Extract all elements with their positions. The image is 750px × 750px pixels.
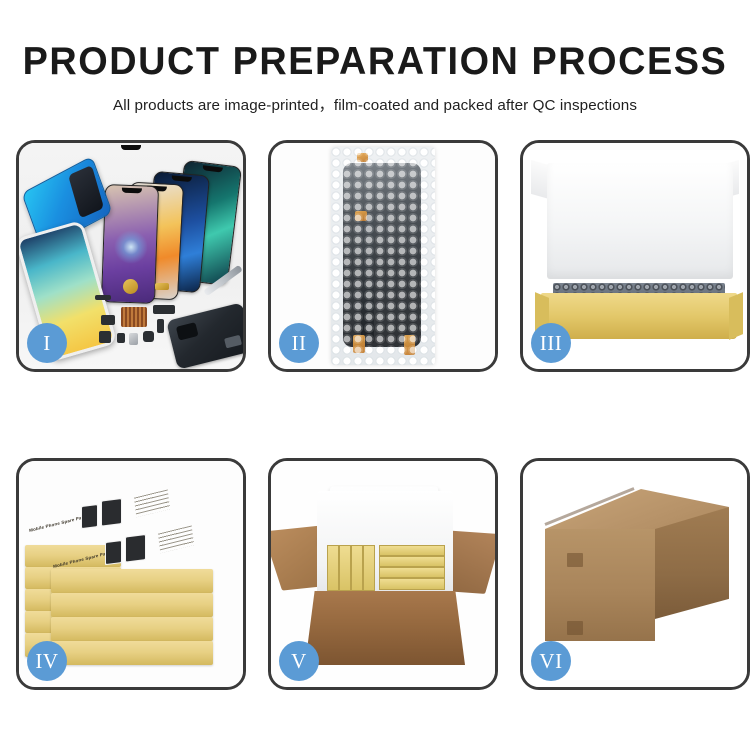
spare-parts-cluster [95,271,243,363]
part-sim-tray-icon [129,333,138,345]
box-label-text: Mobile Phone Spare Parts [53,550,112,569]
yellow-box-tray-icon [541,293,737,339]
part-flex-cable-icon [153,305,175,314]
box-edge [51,641,213,665]
carton-tab-icon [567,553,583,567]
process-step-panel-1: I [16,140,246,372]
box-label-text: Mobile Phone Spare Parts [29,514,88,533]
box-screen-thumbnail-icon [125,534,146,563]
part-button-icon [117,333,125,343]
process-step-panel-4: Mobile Phone Spare Parts Mobile Phone Sp… [16,458,246,690]
packed-box-horizontal [379,567,445,578]
carton-body-icon [305,591,465,665]
carton-front-face-icon [545,529,655,641]
part-camera-icon [99,331,111,343]
bubble-wrap-pouch-icon [331,147,435,365]
process-step-panel-2: II [268,140,498,372]
part-bracket-icon [101,315,115,325]
process-step-panel-6: VI [520,458,750,690]
box-screen-thumbnail-icon [81,504,98,529]
step-badge-4: IV [27,641,67,681]
packed-box-vertical [363,545,375,591]
white-foam-lid-icon [547,163,733,279]
box-screen-thumbnail-icon [105,540,122,565]
process-step-panel-3: III [520,140,750,372]
part-antenna-icon [95,295,111,300]
bubble-wrap-texture [331,147,435,365]
step-badge-1: I [27,323,67,363]
box-screen-thumbnail-icon [101,498,122,527]
packed-box-horizontal [379,578,445,590]
step-badge-5: V [279,641,319,681]
packed-box-vertical [351,545,363,591]
packed-yellow-boxes [327,543,445,591]
process-step-panel-5: V [268,458,498,690]
packed-box-vertical [327,545,339,591]
step-badge-3: III [531,323,571,363]
page-subtitle: All products are image-printed，film-coat… [0,84,750,115]
phone-notch-icon [202,165,222,172]
step-badge-6: VI [531,641,571,681]
phone-back-housing-icon [166,302,243,369]
box-edge [51,617,213,641]
part-screw-post-icon [157,319,164,333]
packed-box-horizontal [379,545,445,556]
part-speaker-icon [123,279,138,294]
part-vibrator-icon [143,331,154,342]
part-shield-mesh-icon [121,307,147,327]
part-connector-icon [155,283,169,290]
step-badge-2: II [279,323,319,363]
packed-box-horizontal [379,556,445,567]
page-title: PRODUCT PREPARATION PROCESS [11,0,739,84]
process-step-grid: I II III [16,140,734,690]
phone-notch-icon [121,145,141,150]
phone-notch-icon [122,188,142,194]
box-spec-lines [134,489,170,517]
box-edge [51,593,213,617]
carton-tab-icon [567,621,583,635]
page-header: PRODUCT PREPARATION PROCESS All products… [0,0,750,115]
phone-notch-icon [171,175,191,182]
packed-box-vertical [339,545,351,591]
